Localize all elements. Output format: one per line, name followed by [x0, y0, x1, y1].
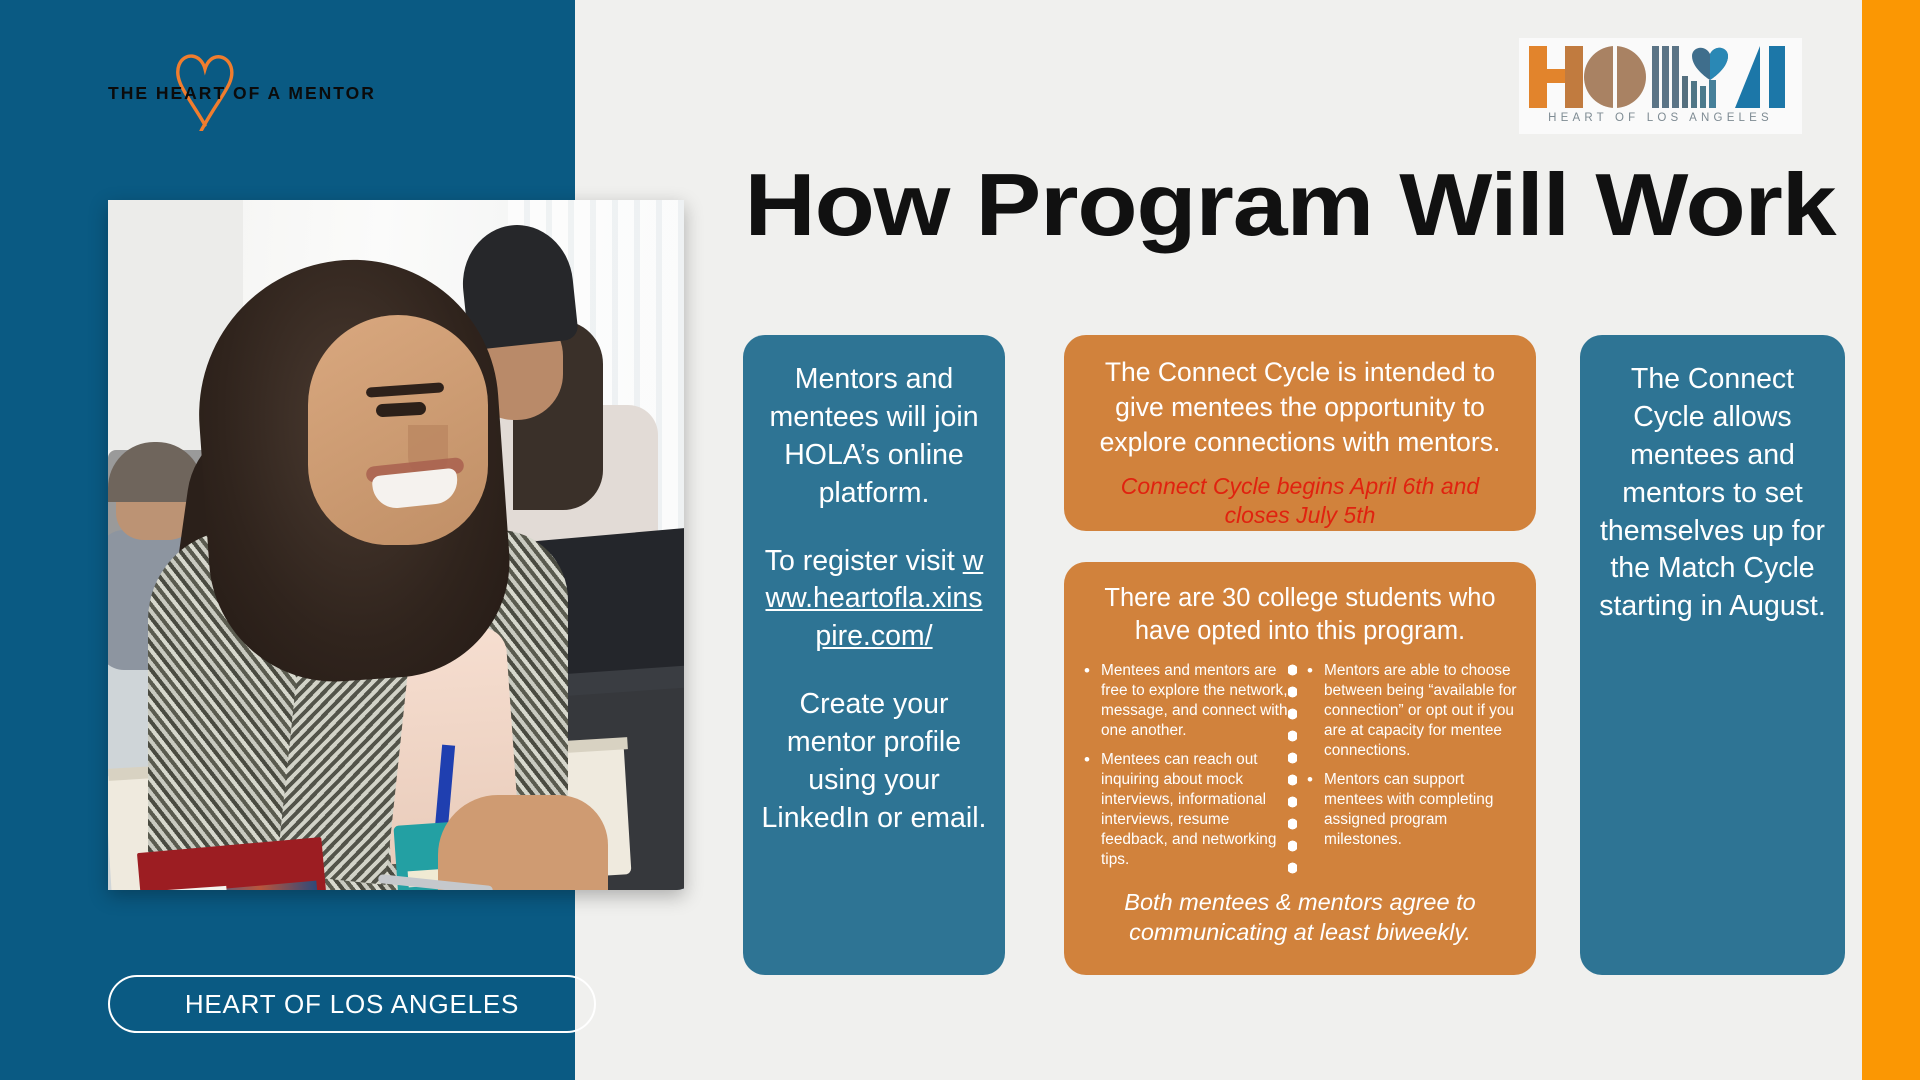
list-item: Mentors can support mentees with complet…	[1305, 770, 1518, 850]
students-heading: There are 30 college students who have o…	[1082, 582, 1518, 647]
platform-para-2: To register visit www.heartofla.xinspire…	[759, 543, 989, 657]
hola-logo-marks	[1529, 46, 1792, 108]
card-match-cycle: The Connect Cycle allows mentees and men…	[1580, 335, 1845, 975]
hola-logo: HEART OF LOS ANGELES	[1519, 38, 1802, 134]
students-footnote: Both mentees & mentors agree to communic…	[1082, 887, 1518, 947]
connect-cycle-lead: The Connect Cycle is intended to give me…	[1086, 355, 1514, 461]
mentor-wordmark-text: THE HEART OF A MENTOR	[108, 83, 408, 104]
platform-para-3: Create your mentor profile using your Li…	[759, 686, 989, 838]
card-online-platform: Mentors and mentees will join HOLA’s onl…	[743, 335, 1005, 975]
match-cycle-text: The Connect Cycle allows mentees and men…	[1594, 361, 1831, 626]
list-item: Mentees can reach out inquiring about mo…	[1082, 750, 1295, 870]
list-item: Mentees and mentors are free to explore …	[1082, 661, 1295, 741]
hola-logo-caption: HEART OF LOS ANGELES	[1529, 112, 1792, 124]
card-connect-cycle: The Connect Cycle is intended to give me…	[1064, 335, 1536, 531]
hola-pill-label: HEART OF LOS ANGELES	[185, 989, 519, 1020]
students-bullets-left: Mentees and mentors are free to explore …	[1082, 661, 1295, 879]
connect-cycle-dates: Connect Cycle begins April 6th and close…	[1086, 472, 1514, 530]
list-item: Mentors are able to choose between being…	[1305, 661, 1518, 761]
mentor-wordmark: THE HEART OF A MENTOR	[108, 70, 408, 110]
classroom-photo	[108, 200, 684, 890]
heart-of-los-angeles-pill[interactable]: HEART OF LOS ANGELES	[108, 975, 596, 1033]
card-students: There are 30 college students who have o…	[1064, 562, 1536, 975]
hola-letterforms-icon	[1529, 46, 1792, 108]
students-bullets-right: Mentors are able to choose between being…	[1305, 661, 1518, 879]
students-bullet-columns: Mentees and mentors are free to explore …	[1082, 661, 1518, 879]
register-prefix: To register visit	[765, 545, 955, 577]
platform-para-1: Mentors and mentees will join HOLA’s onl…	[759, 361, 989, 513]
page-title: How Program Will Work	[668, 150, 1911, 260]
